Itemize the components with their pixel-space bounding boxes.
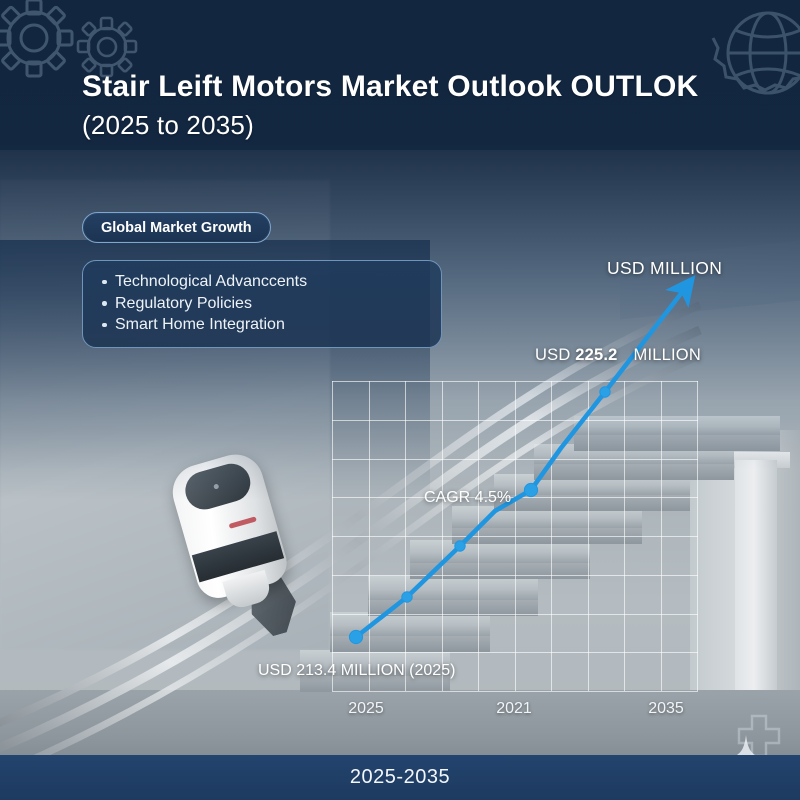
y-axis-title: USD MILLION bbox=[607, 258, 722, 279]
x-axis-tick-labels: 2025 2021 2035 bbox=[332, 700, 712, 726]
footer-label: 2025-2035 bbox=[350, 766, 450, 789]
title-subtitle: (2025 to 2035) bbox=[82, 108, 702, 142]
end-value-suffix: MILLION bbox=[634, 346, 701, 364]
page-title: Stair Leift Motors Market Outlook OUTLOK… bbox=[82, 70, 702, 142]
x-tick-label: 2035 bbox=[648, 700, 684, 718]
growth-line-series bbox=[332, 271, 712, 701]
x-tick-label: 2021 bbox=[496, 700, 532, 718]
badge-label: Global Market Growth bbox=[101, 220, 252, 236]
footer-bar: 2025-2035 bbox=[0, 755, 800, 800]
end-value-annotation: USD 225.2MILLION bbox=[535, 346, 701, 365]
data-point-marker bbox=[402, 592, 412, 602]
data-point-marker bbox=[349, 630, 362, 643]
start-value-annotation: USD 213.4 MILLION (2025) bbox=[258, 662, 455, 680]
cagr-annotation: CAGR 4.5% bbox=[424, 489, 511, 507]
end-value-number: 225.2 bbox=[575, 346, 617, 364]
status-badge: Global Market Growth bbox=[82, 212, 271, 243]
x-tick-label: 2025 bbox=[348, 700, 384, 718]
title-line-2: OUTLOK bbox=[571, 70, 699, 103]
data-point-marker bbox=[455, 541, 465, 551]
data-point-marker bbox=[524, 483, 537, 496]
market-growth-chart bbox=[332, 381, 698, 691]
end-value-prefix: USD bbox=[535, 346, 570, 364]
infographic-canvas: Stair Leift Motors Market Outlook OUTLOK… bbox=[0, 0, 800, 800]
title-line-1: Stair Leift Motors Market Outlook bbox=[82, 70, 562, 103]
data-point-marker bbox=[600, 387, 610, 397]
